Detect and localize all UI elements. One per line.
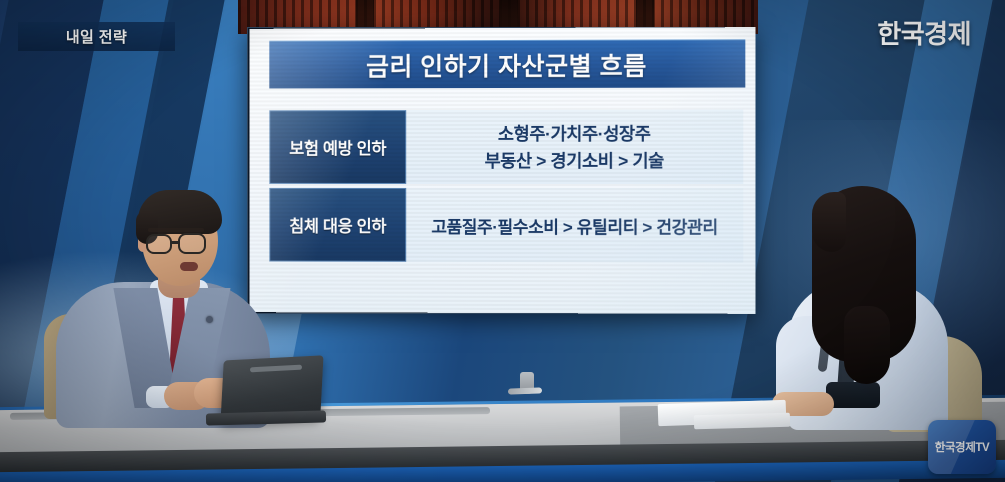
network-logo: 한국경제 [877,14,971,51]
table-row: 침체 대응 인하 고품질주·필수소비 > 유틸리티 > 건강관리 [269,188,743,263]
row-content: 고품질주·필수소비 > 유틸리티 > 건강관리 [406,188,743,263]
row-content-line: 소형주·가치주·성장주 [498,121,651,146]
glasses-icon [178,233,206,254]
anchor-hair-front [812,192,846,252]
segment-badge-label: 내일 전략 [66,26,127,47]
channel-watermark: 한국경제TV [928,420,996,474]
anchor-belt [826,382,880,408]
panel-rows: 보험 예방 인하 소형주·가치주·성장주 부동산 > 경기소비 > 기술 침체 … [269,110,743,290]
row-content-line: 고품질주·필수소비 > 유틸리티 > 건강관리 [431,212,717,237]
row-label-text: 보험 예방 인하 [289,135,386,159]
panel-title-text: 금리 인하기 자산군별 흐름 [366,46,647,83]
row-label-box: 보험 예방 인하 [269,110,406,184]
panel-title-bar: 금리 인하기 자산군별 흐름 [269,39,745,88]
guest-mouth [180,262,198,271]
news-anchor [768,186,983,430]
graphic-panel: 금리 인하기 자산군별 흐름 보험 예방 인하 소형주·가치주·성장주 부동산 … [250,27,756,314]
segment-badge: 내일 전략 [18,22,175,51]
desk-pen [508,387,542,394]
anchor-hair-length [844,306,890,384]
glasses-icon [146,234,172,254]
row-label-text: 침체 대응 인하 [289,213,386,237]
row-content-line: 부동산 > 경기소비 > 기술 [485,148,664,173]
guest-brow [148,228,204,232]
studio-video-wall: 금리 인하기 자산군별 흐름 보험 예방 인하 소형주·가치주·성장주 부동산 … [247,27,755,314]
table-row: 보험 예방 인하 소형주·가치주·성장주 부동산 > 경기소비 > 기술 [269,110,743,184]
glasses-bridge [171,241,180,244]
network-logo-text: 한국경제 [877,14,971,51]
row-label-box: 침체 대응 인하 [269,188,406,262]
row-content: 소형주·가치주·성장주 부동산 > 경기소비 > 기술 [406,110,743,184]
lapel-microphone-icon [206,316,213,323]
channel-watermark-text: 한국경제TV [935,439,990,455]
script-papers [694,413,790,430]
broadcast-frame: 금리 인하기 자산군별 흐름 보험 예방 인하 소형주·가치주·성장주 부동산 … [0,0,1005,482]
